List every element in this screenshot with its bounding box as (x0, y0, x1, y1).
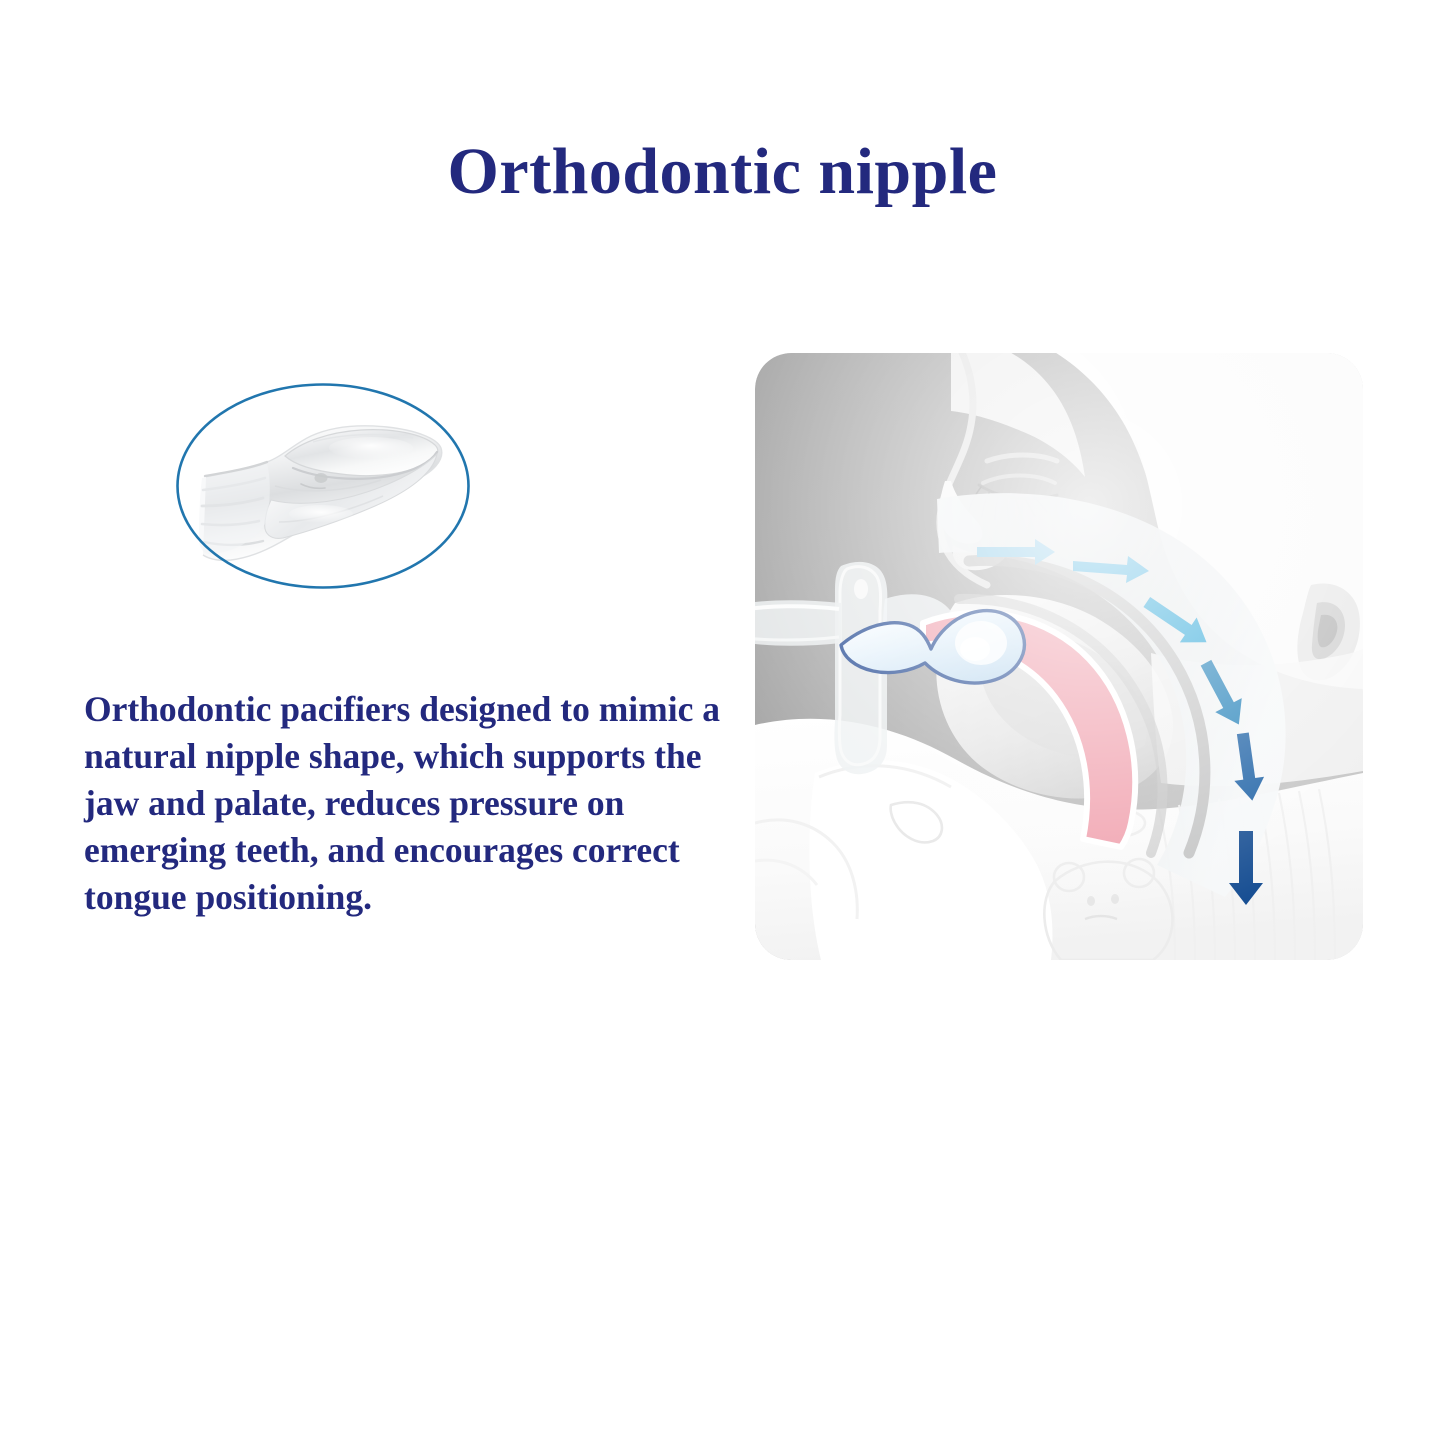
page-title: Orthodontic nipple (0, 136, 1445, 209)
left-column: Orthodontic pacifiers designed to mimic … (0, 340, 740, 980)
nipple-badge (175, 382, 471, 590)
pacifier-usage-illustration (755, 353, 1363, 960)
pacifier-usage-photo (755, 353, 1363, 960)
description-text: Orthodontic pacifiers designed to mimic … (84, 686, 724, 921)
orthodontic-nipple-illustration-icon (175, 382, 471, 590)
